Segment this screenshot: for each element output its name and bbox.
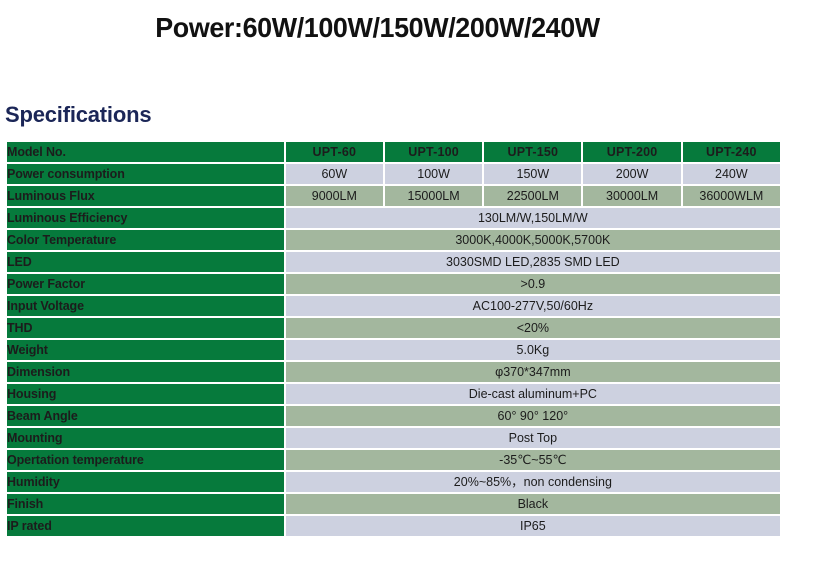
- table-row: THD<20%: [7, 318, 780, 338]
- row-value-merged: 60° 90° 120°: [286, 406, 780, 426]
- row-label: LED: [7, 252, 284, 272]
- row-value-cell: 22500LM: [484, 186, 581, 206]
- model-column-header: UPT-240: [683, 142, 780, 162]
- row-value-merged: Post Top: [286, 428, 780, 448]
- model-column-header: UPT-100: [385, 142, 482, 162]
- table-row: Luminous Flux9000LM15000LM22500LM30000LM…: [7, 186, 780, 206]
- table-row: Beam Angle60° 90° 120°: [7, 406, 780, 426]
- table-row: Color Temperature3000K,4000K,5000K,5700K: [7, 230, 780, 250]
- row-label: Power consumption: [7, 164, 284, 184]
- specification-page: Power:60W/100W/150W/200W/240W Specificat…: [0, 0, 826, 567]
- row-label: Power Factor: [7, 274, 284, 294]
- table-row: HousingDie-cast aluminum+PC: [7, 384, 780, 404]
- row-value-cell: 100W: [385, 164, 482, 184]
- row-value-cell: 30000LM: [583, 186, 680, 206]
- row-label: Color Temperature: [7, 230, 284, 250]
- row-value-merged: 20%~85%，non condensing: [286, 472, 780, 492]
- row-value-merged: φ370*347mm: [286, 362, 780, 382]
- row-label: Weight: [7, 340, 284, 360]
- table-row: Opertation temperature-35℃~55℃: [7, 450, 780, 470]
- row-value-merged: AC100-277V,50/60Hz: [286, 296, 780, 316]
- row-value-merged: IP65: [286, 516, 780, 536]
- row-value-merged: Die-cast aluminum+PC: [286, 384, 780, 404]
- row-label: Luminous Efficiency: [7, 208, 284, 228]
- model-column-header: UPT-60: [286, 142, 383, 162]
- table-row: Power Factor>0.9: [7, 274, 780, 294]
- row-label: Mounting: [7, 428, 284, 448]
- row-value-cell: 36000WLM: [683, 186, 780, 206]
- row-label: Opertation temperature: [7, 450, 284, 470]
- row-label: Dimension: [7, 362, 284, 382]
- product-power-title: Power:60W/100W/150W/200W/240W: [0, 12, 826, 44]
- row-value-merged: 5.0Kg: [286, 340, 780, 360]
- specifications-table: Model No.UPT-60UPT-100UPT-150UPT-200UPT-…: [5, 140, 782, 538]
- row-label: Finish: [7, 494, 284, 514]
- row-label: Luminous Flux: [7, 186, 284, 206]
- row-value-merged: 3030SMD LED,2835 SMD LED: [286, 252, 780, 272]
- row-label: Housing: [7, 384, 284, 404]
- product-power-title-text: Power:60W/100W/150W/200W/240W: [156, 12, 601, 44]
- table-row: Weight5.0Kg: [7, 340, 780, 360]
- table-row: Luminous Efficiency130LM/W,150LM/W: [7, 208, 780, 228]
- row-value-merged: Black: [286, 494, 780, 514]
- row-value-cell: 9000LM: [286, 186, 383, 206]
- table-row: IP ratedIP65: [7, 516, 780, 536]
- row-label: IP rated: [7, 516, 284, 536]
- row-value-merged: <20%: [286, 318, 780, 338]
- row-label: Beam Angle: [7, 406, 284, 426]
- table-row: Humidity20%~85%，non condensing: [7, 472, 780, 492]
- specifications-table-body: Model No.UPT-60UPT-100UPT-150UPT-200UPT-…: [7, 142, 780, 536]
- table-row: Input VoltageAC100-277V,50/60Hz: [7, 296, 780, 316]
- table-row: Power consumption60W100W150W200W240W: [7, 164, 780, 184]
- row-value-cell: 150W: [484, 164, 581, 184]
- table-row: MountingPost Top: [7, 428, 780, 448]
- row-label: THD: [7, 318, 284, 338]
- specifications-heading: Specifications: [5, 102, 151, 128]
- row-value-merged: -35℃~55℃: [286, 450, 780, 470]
- row-label: Model No.: [7, 142, 284, 162]
- row-value-merged: >0.9: [286, 274, 780, 294]
- model-column-header: UPT-150: [484, 142, 581, 162]
- row-value-cell: 240W: [683, 164, 780, 184]
- row-label: Humidity: [7, 472, 284, 492]
- table-row: Dimensionφ370*347mm: [7, 362, 780, 382]
- table-row: LED3030SMD LED,2835 SMD LED: [7, 252, 780, 272]
- model-column-header: UPT-200: [583, 142, 680, 162]
- table-row: FinishBlack: [7, 494, 780, 514]
- row-value-merged: 3000K,4000K,5000K,5700K: [286, 230, 780, 250]
- row-value-cell: 60W: [286, 164, 383, 184]
- row-value-merged: 130LM/W,150LM/W: [286, 208, 780, 228]
- row-label: Input Voltage: [7, 296, 284, 316]
- row-value-cell: 200W: [583, 164, 680, 184]
- table-row: Model No.UPT-60UPT-100UPT-150UPT-200UPT-…: [7, 142, 780, 162]
- row-value-cell: 15000LM: [385, 186, 482, 206]
